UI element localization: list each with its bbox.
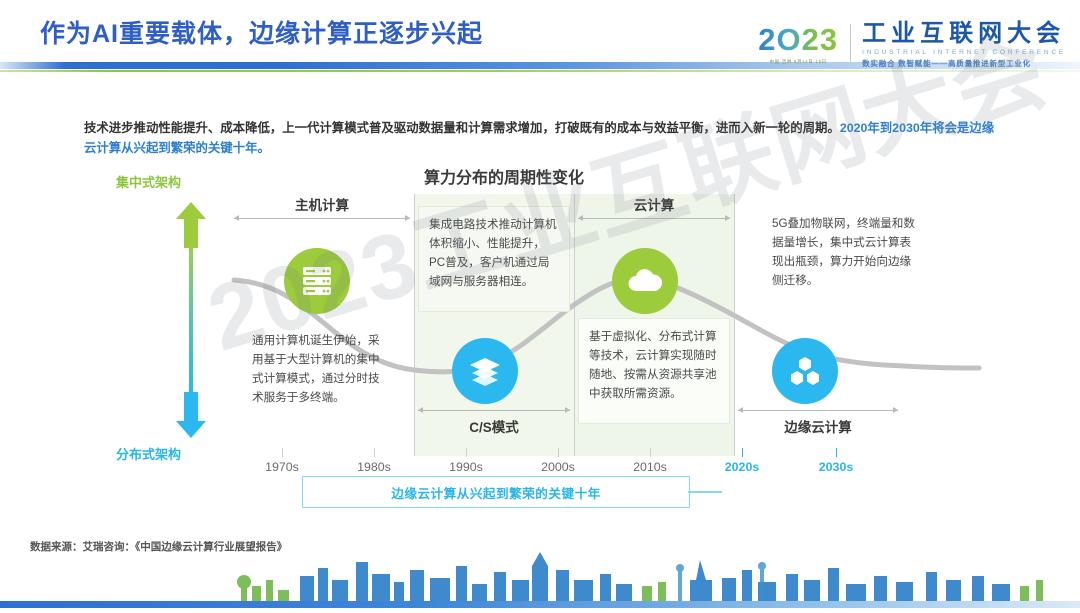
- annotation-cs-model: 集成电路技术推动计算机体积缩小、性能提升，PC普及，客户机通过局域网与服务器相连…: [418, 206, 570, 312]
- city-skyline-illustration: [0, 546, 1080, 608]
- node-mainframe[interactable]: [284, 248, 350, 314]
- bracket-mainframe: [234, 218, 410, 219]
- logo-year-subtitle: 中国·吉林 8月14日-16日: [758, 59, 838, 65]
- logo-name-cn: 工业互联网大会: [862, 22, 1066, 46]
- decade-1990s[interactable]: 1990s: [431, 460, 501, 474]
- era-label-edge-cloud: 边缘云计算: [738, 416, 898, 436]
- tick-2010s: [650, 448, 651, 457]
- tick-2020s: [742, 448, 743, 457]
- node-edge-cloud[interactable]: [772, 338, 838, 404]
- tick-1970s: [282, 448, 283, 457]
- logo-year: 2O23: [758, 24, 838, 55]
- logo-divider: [850, 24, 851, 66]
- decade-2000s[interactable]: 2000s: [523, 460, 593, 474]
- tick-2000s: [558, 448, 559, 457]
- server-rack-icon: [300, 264, 334, 298]
- callout-text: 边缘云计算从兴起到繁荣的关键十年: [391, 483, 601, 502]
- logo-name-en: INDUSTRIAL INTERNET CONFERENCE: [862, 50, 1066, 57]
- node-cloud[interactable]: [612, 248, 678, 314]
- era-label-mainframe: 主机计算: [234, 194, 410, 214]
- annotation-mainframe: 通用计算机诞生伊始，采用基于大型计算机的集中式计算模式，通过分时技术服务于多终端…: [242, 323, 400, 415]
- decade-2010s[interactable]: 2010s: [615, 460, 685, 474]
- cloud-icon: [626, 266, 664, 296]
- decade-1980s[interactable]: 1980s: [339, 460, 409, 474]
- layers-stack-icon: [467, 353, 503, 389]
- logo-year-block: 2O23 中国·吉林 8月14日-16日: [758, 24, 850, 65]
- footer-bar: [0, 601, 1080, 608]
- decade-2030s[interactable]: 2030s: [801, 460, 871, 474]
- tick-1990s: [466, 448, 467, 457]
- header-rule-green: [0, 70, 1080, 72]
- bracket-cloud: [578, 218, 730, 219]
- logo-tagline: 数实融合 数智赋能——高质量推进新型工业化: [862, 60, 1066, 68]
- footer-skyline: [0, 546, 1080, 608]
- intro-paragraph-plain: 技术进步推动性能提升、成本降低，上一代计算模式普及驱动数据量和计算需求增加，打破…: [84, 121, 840, 135]
- tick-1980s: [374, 448, 375, 457]
- annotation-edge-cloud: 5G叠加物联网，终端量和数据量增长，集中式云计算表现出瓶颈，算力开始向边缘侧迁移…: [762, 206, 928, 298]
- nodes-cluster-icon: [788, 354, 822, 388]
- callout-connector: [688, 491, 722, 493]
- page-title: 作为AI重要载体，边缘计算正逐步兴起: [40, 14, 483, 50]
- intro-paragraph: 技术进步推动性能提升、成本降低，上一代计算模式普及驱动数据量和计算需求增加，打破…: [84, 118, 1000, 158]
- conference-logo: 2O23 中国·吉林 8月14日-16日 工业互联网大会 INDUSTRIAL …: [758, 22, 1066, 67]
- tick-2030s: [836, 448, 837, 457]
- annotation-cloud: 基于虚拟化、分布式计算等技术，云计算实现随时随地、按需从资源共享池中获取所需资源…: [578, 318, 730, 424]
- callout-banner: 边缘云计算从兴起到繁荣的关键十年: [302, 476, 690, 508]
- chart-panel: 算力分布的周期性变化 集中式架构 分布式架构 主机计算 云计算 C/S模式: [84, 160, 1000, 520]
- slide-root: 作为AI重要载体，边缘计算正逐步兴起 2O23 中国·吉林 8月14日-16日 …: [0, 0, 1080, 608]
- node-cs-model[interactable]: [452, 338, 518, 404]
- decade-2020s[interactable]: 2020s: [707, 460, 777, 474]
- bracket-cs-model: [418, 410, 570, 411]
- era-label-cloud: 云计算: [578, 194, 730, 214]
- logo-name-block: 工业互联网大会 INDUSTRIAL INTERNET CONFERENCE 数…: [862, 22, 1066, 67]
- bracket-edge-cloud: [738, 410, 898, 411]
- decade-1970s[interactable]: 1970s: [247, 460, 317, 474]
- era-label-cs-model: C/S模式: [418, 416, 570, 436]
